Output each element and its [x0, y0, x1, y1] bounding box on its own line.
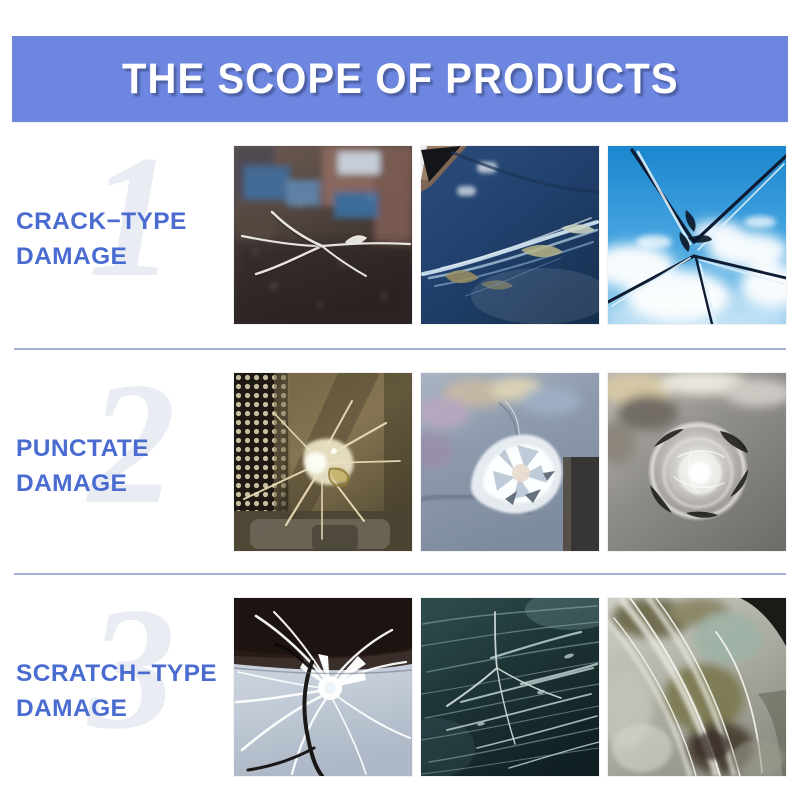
damage-row-scratch-type: 3 SCRATCH−TYPE DAMAGE: [0, 593, 800, 793]
photo-punctate-olive-frit-graphic: [234, 373, 412, 551]
row-label-block: 1 CRACK−TYPE DAMAGE: [16, 163, 226, 323]
photo-scratch-blurred-arcs-graphic: [608, 598, 786, 776]
row-label-line-1: CRACK−TYPE: [16, 208, 187, 235]
photo-punctate-flower-chip-graphic: [421, 373, 599, 551]
row-label-line-2: DAMAGE: [16, 467, 149, 502]
row-label-block: 3 SCRATCH−TYPE DAMAGE: [16, 615, 226, 775]
photo-crack-sky-clouds-graphic: [608, 146, 786, 324]
damage-photo-scratch-starburst[interactable]: [234, 598, 412, 776]
photo-crack-long-navy-graphic: [421, 146, 599, 324]
damage-photo-scratch-teal-lines[interactable]: [421, 598, 599, 776]
photo-scratch-teal-lines-graphic: [421, 598, 599, 776]
photo-scratch-starburst-graphic: [234, 598, 412, 776]
damage-photo-crack-star-building[interactable]: [234, 146, 412, 324]
row-label-line-1: SCRATCH−TYPE: [16, 660, 217, 687]
row-label: SCRATCH−TYPE DAMAGE: [16, 657, 217, 727]
page-title: THE SCOPE OF PRODUCTS: [122, 55, 679, 104]
damage-row-punctate: 2 PUNCTATE DAMAGE: [0, 368, 800, 568]
row-label: PUNCTATE DAMAGE: [16, 432, 149, 502]
damage-row-crack-type: 1 CRACK−TYPE DAMAGE: [0, 141, 800, 341]
row-label-line-2: DAMAGE: [16, 240, 187, 275]
header-banner: THE SCOPE OF PRODUCTS: [12, 36, 788, 122]
row-label: CRACK−TYPE DAMAGE: [16, 205, 187, 275]
row-label-block: 2 PUNCTATE DAMAGE: [16, 390, 226, 550]
photo-punctate-bullseye-gray-graphic: [608, 373, 786, 551]
row-label-line-2: DAMAGE: [16, 692, 217, 727]
damage-photo-crack-sky-clouds[interactable]: [608, 146, 786, 324]
damage-photo-crack-long-navy[interactable]: [421, 146, 599, 324]
damage-photo-punctate-olive-frit[interactable]: [234, 373, 412, 551]
row-label-line-1: PUNCTATE: [16, 435, 149, 462]
damage-photo-scratch-blurred-arcs[interactable]: [608, 598, 786, 776]
damage-photo-punctate-flower-chip[interactable]: [421, 373, 599, 551]
damage-photo-punctate-bullseye-gray[interactable]: [608, 373, 786, 551]
infographic-page: THE SCOPE OF PRODUCTS 1 CRACK−TYPE DAMAG…: [0, 0, 800, 800]
photo-crack-star-building-graphic: [234, 146, 412, 324]
